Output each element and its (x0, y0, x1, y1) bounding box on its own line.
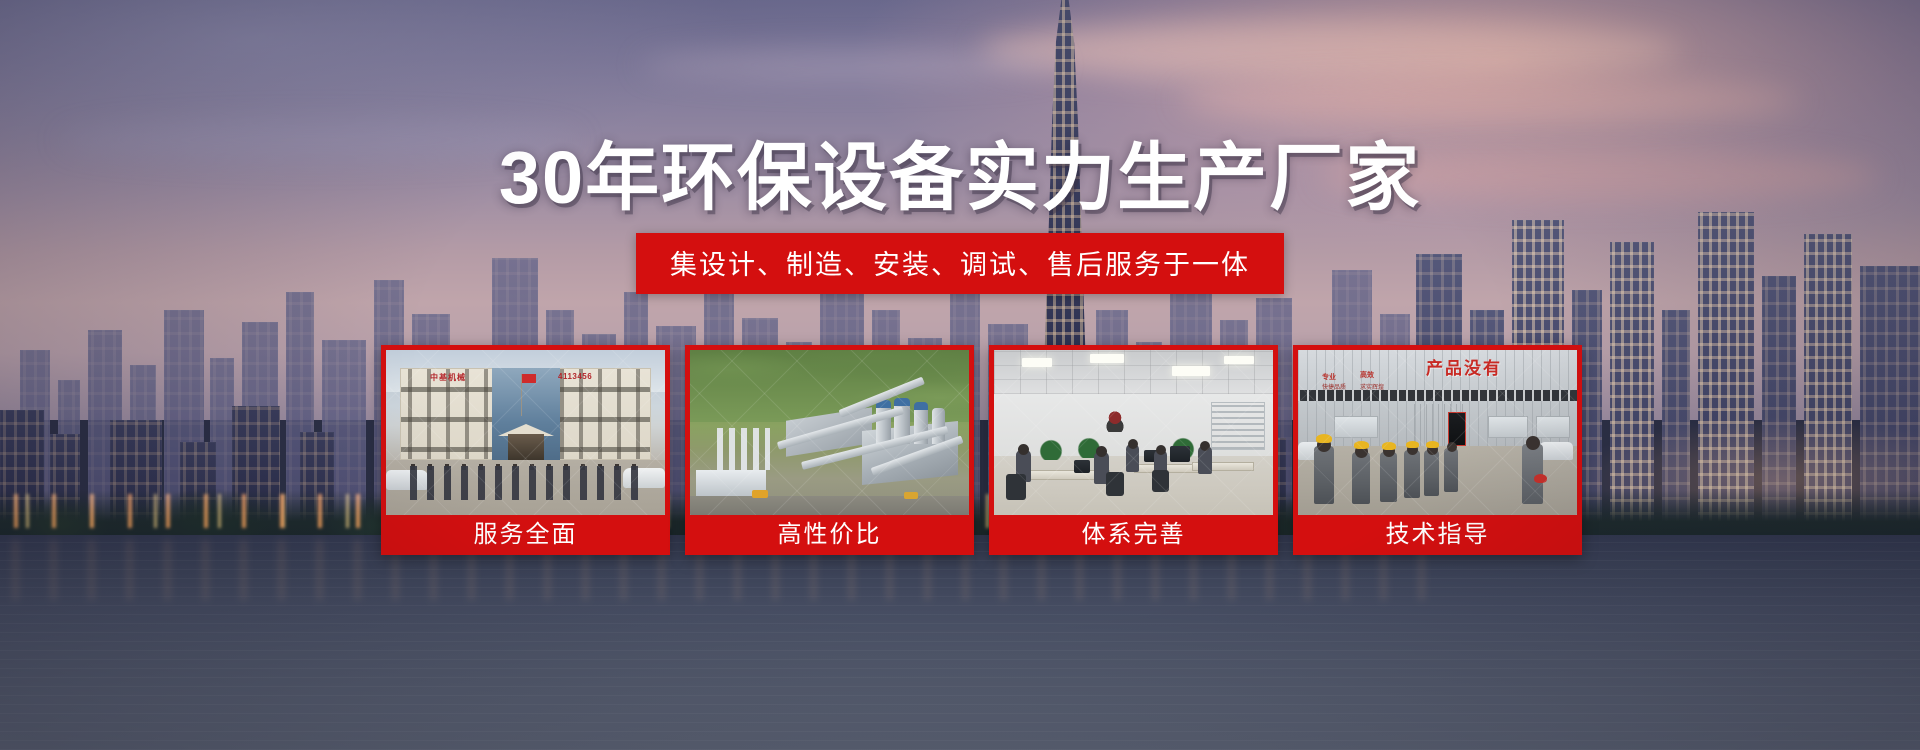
hero-banner: 30年环保设备实力生产厂家 集设计、制造、安装、调试、售后服务于一体 (0, 0, 1920, 750)
page-title: 30年环保设备实力生产厂家 (0, 118, 1920, 225)
card-photo-industrial-plant (690, 350, 969, 515)
card-photo-office-interior (994, 350, 1273, 515)
card-photo-company-building: 中基机械 4113456 (386, 350, 665, 515)
banner-content: 30年环保设备实力生产厂家 集设计、制造、安装、调试、售后服务于一体 (0, 0, 1920, 750)
factory-slogan-2: 高效 (1360, 370, 1374, 380)
card-photo-factory-workers: 产品没有 专业 高效 快捷品质 求实辉煌 (1298, 350, 1577, 515)
factory-big-sign: 产品没有 (1426, 354, 1502, 379)
subtitle-badge: 集设计、制造、安装、调试、售后服务于一体 (636, 233, 1284, 294)
feature-card[interactable]: 中基机械 4113456 服务全面 (381, 345, 670, 555)
photo-phone-number: 4113456 (558, 372, 592, 381)
feature-card[interactable]: 体系完善 (989, 345, 1278, 555)
feature-card[interactable]: 产品没有 专业 高效 快捷品质 求实辉煌 (1293, 345, 1582, 555)
feature-card[interactable]: 高性价比 (685, 345, 974, 555)
feature-card-row: 中基机械 4113456 服务全面 (381, 345, 1582, 555)
photo-company-sign: 中基机械 (430, 372, 466, 383)
card-caption: 高性价比 (690, 515, 969, 555)
card-caption: 技术指导 (1298, 515, 1577, 555)
factory-slogan-1: 专业 (1322, 372, 1336, 382)
card-caption: 体系完善 (994, 515, 1273, 555)
card-caption: 服务全面 (386, 515, 665, 555)
